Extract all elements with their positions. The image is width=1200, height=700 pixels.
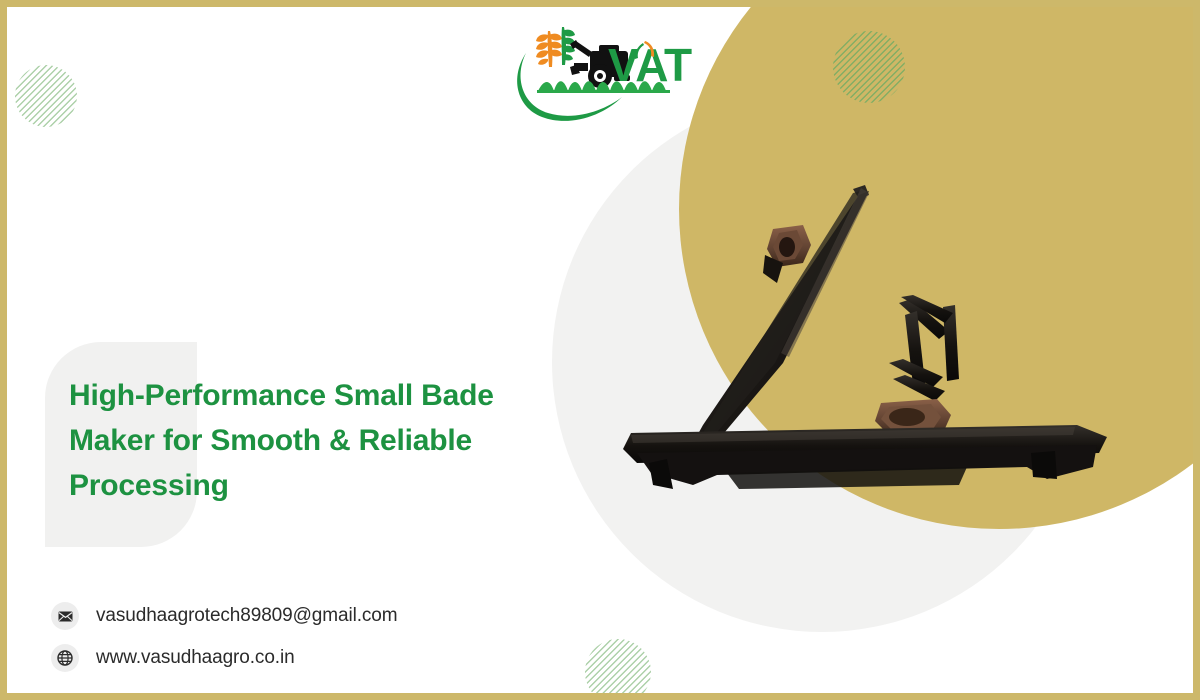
website-url-text: www.vasudhaagro.co.in — [96, 647, 295, 669]
email-address-text: vasudhaagrotech89809@gmail.com — [96, 605, 397, 627]
svg-text:T: T — [664, 39, 692, 91]
brand-logo[interactable]: VA T — [504, 19, 696, 127]
contact-details: vasudhaagrotech89809@gmail.com www.vasud… — [51, 595, 571, 679]
dotted-circle-decoration-top-right — [833, 31, 905, 103]
globe-icon — [51, 644, 79, 672]
page-title: High-Performance Small Bade Maker for Sm… — [69, 373, 499, 508]
wheat-icon — [536, 31, 562, 67]
dotted-circle-decoration-top-left — [15, 65, 77, 127]
dotted-circle-decoration-bottom — [585, 639, 651, 693]
email-icon — [51, 602, 79, 630]
product-image-bade-maker — [607, 167, 1127, 527]
contact-row-email[interactable]: vasudhaagrotech89809@gmail.com — [51, 595, 571, 637]
brand-wordmark: VA T — [608, 39, 692, 91]
contact-row-website[interactable]: www.vasudhaagro.co.in — [51, 637, 571, 679]
promo-banner: VA T — [0, 0, 1200, 700]
svg-text:VA: VA — [608, 39, 669, 91]
product-bracket — [889, 295, 959, 401]
product-upper-arm — [693, 185, 869, 443]
